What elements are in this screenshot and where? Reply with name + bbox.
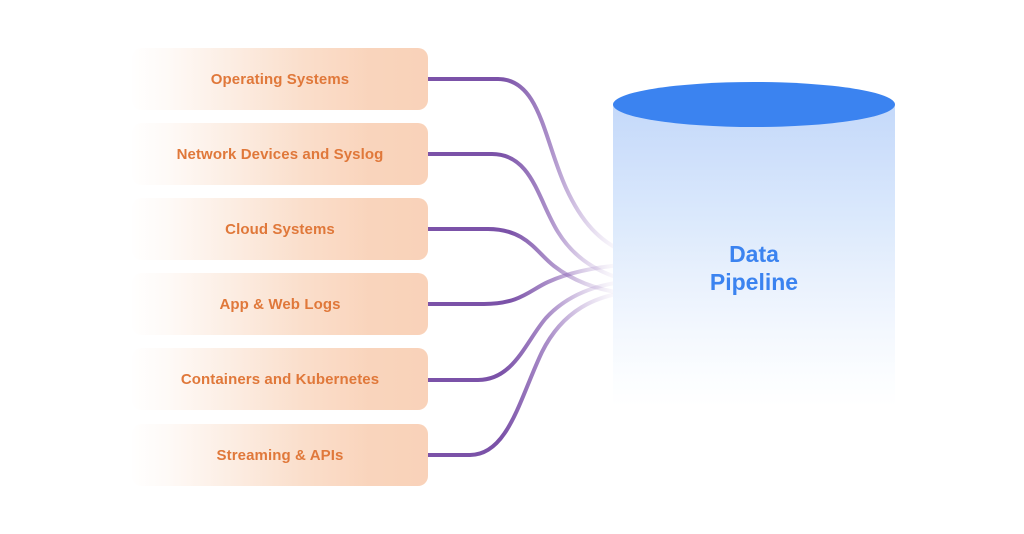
cylinder-label: Data Pipeline (613, 240, 895, 296)
diagram-canvas: Operating Systems Network Devices and Sy… (0, 0, 1024, 534)
source-label: Network Devices and Syslog (177, 147, 384, 162)
source-label: Cloud Systems (225, 222, 335, 237)
connector-path-5 (428, 282, 622, 380)
connector-path-6 (428, 293, 622, 455)
cylinder-label-line1: Data (613, 240, 895, 268)
data-pipeline-cylinder[interactable]: Data Pipeline (613, 82, 895, 407)
connector-path-3 (428, 229, 622, 293)
source-box-cloud-systems[interactable]: Cloud Systems (132, 198, 428, 260)
source-box-network-devices-and-syslog[interactable]: Network Devices and Syslog (132, 123, 428, 185)
source-label: Operating Systems (211, 72, 349, 87)
source-label: App & Web Logs (219, 297, 340, 312)
connector-path-4 (428, 265, 622, 304)
source-label: Streaming & APIs (217, 448, 344, 463)
cylinder-label-line2: Pipeline (613, 268, 895, 296)
cylinder-top-ellipse (613, 82, 895, 127)
source-box-app-and-web-logs[interactable]: App & Web Logs (132, 273, 428, 335)
source-label: Containers and Kubernetes (181, 372, 379, 387)
source-box-containers-and-kubernetes[interactable]: Containers and Kubernetes (132, 348, 428, 410)
source-box-streaming-and-apis[interactable]: Streaming & APIs (132, 424, 428, 486)
source-box-operating-systems[interactable]: Operating Systems (132, 48, 428, 110)
connector-path-2 (428, 154, 622, 279)
connector-path-1 (428, 79, 624, 252)
